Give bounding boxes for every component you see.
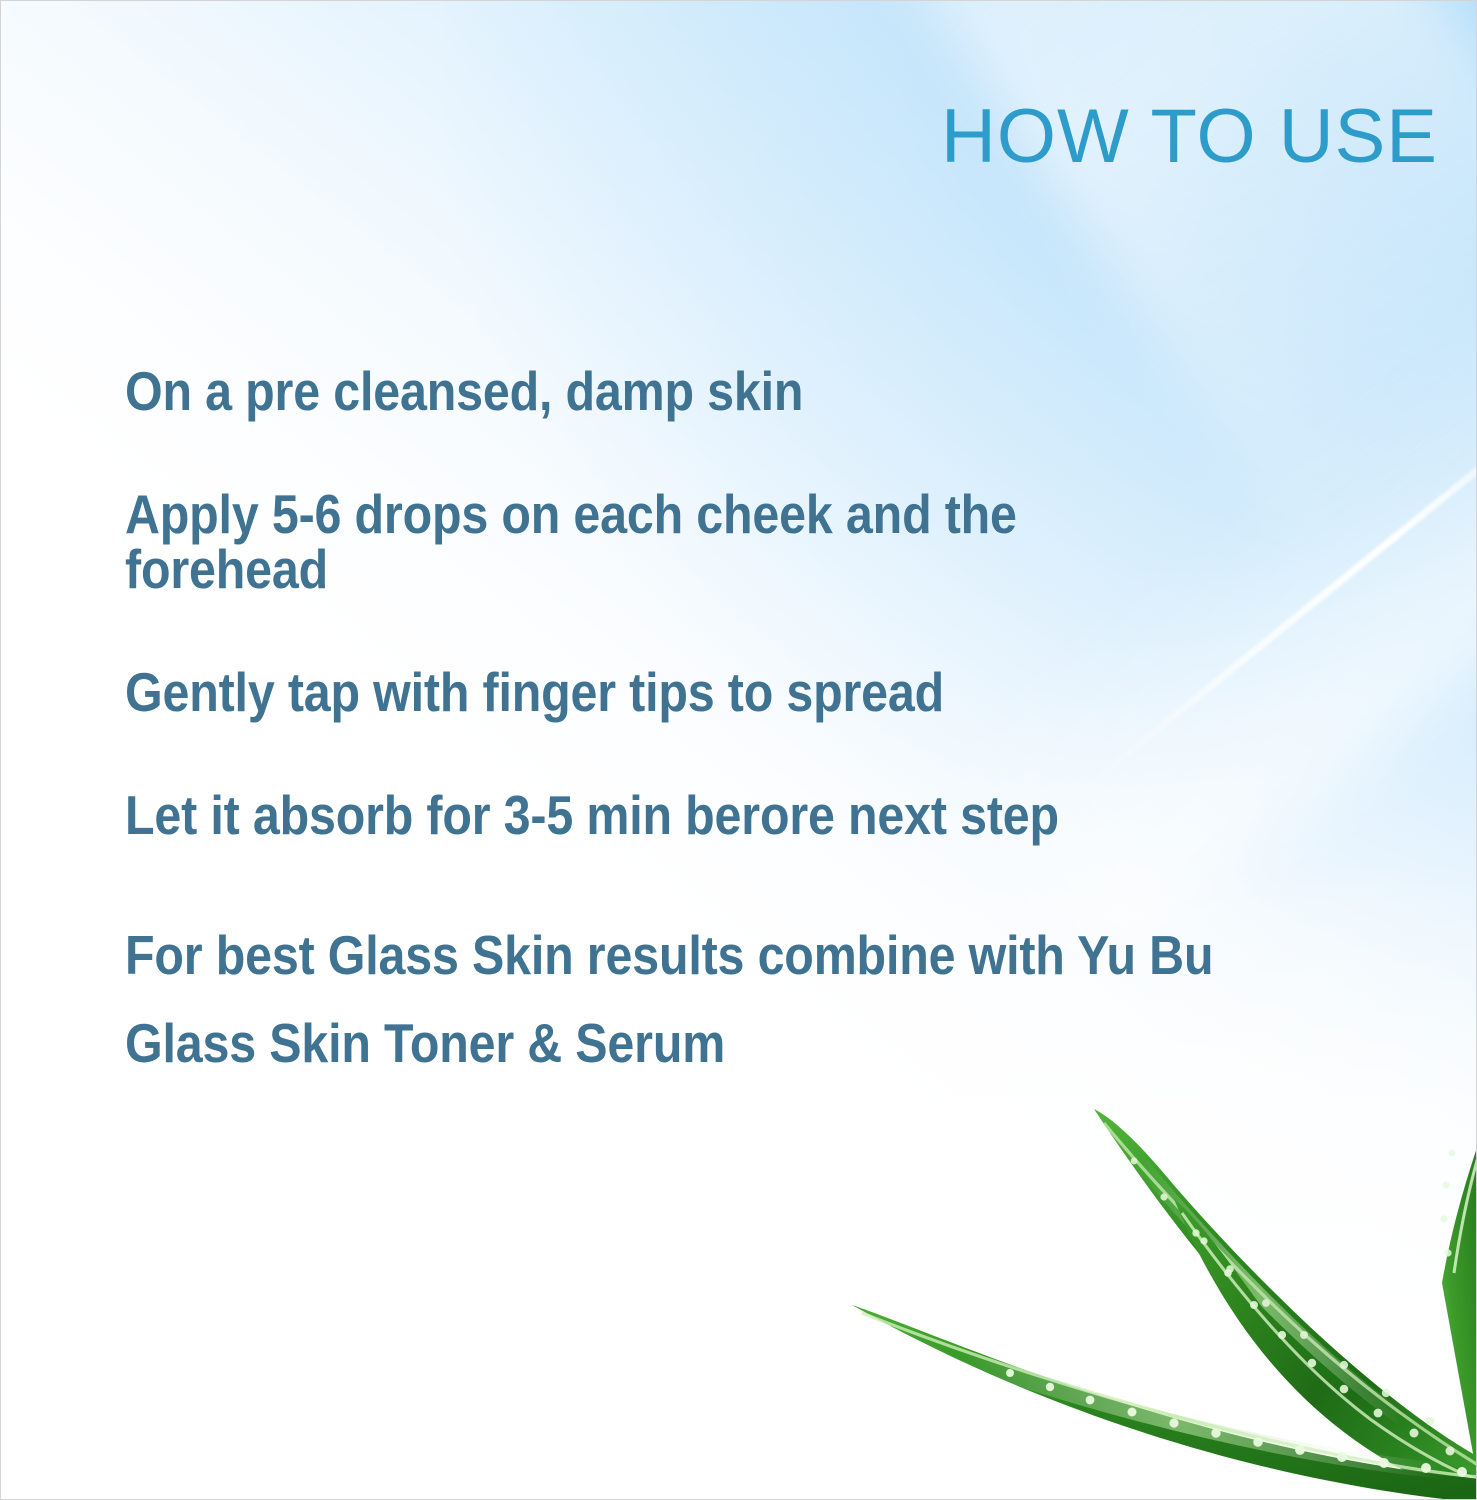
instruction-step-2: Apply 5-6 drops on each cheek and the fo…	[125, 487, 1216, 597]
instruction-step-5: For best Glass Skin results combine with…	[125, 911, 1216, 1087]
instruction-step-1: On a pre cleansed, damp skin	[125, 364, 1216, 419]
page-title: HOW TO USE	[941, 99, 1438, 175]
instructions-list: On a pre cleansed, damp skin Apply 5-6 d…	[125, 364, 1365, 1087]
instruction-step-4: Let it absorb for 3-5 min berore next st…	[125, 788, 1216, 843]
how-to-use-panel: HOW TO USE On a pre cleansed, damp skin …	[0, 0, 1477, 1500]
instruction-step-3: Gently tap with finger tips to spread	[125, 665, 1216, 720]
